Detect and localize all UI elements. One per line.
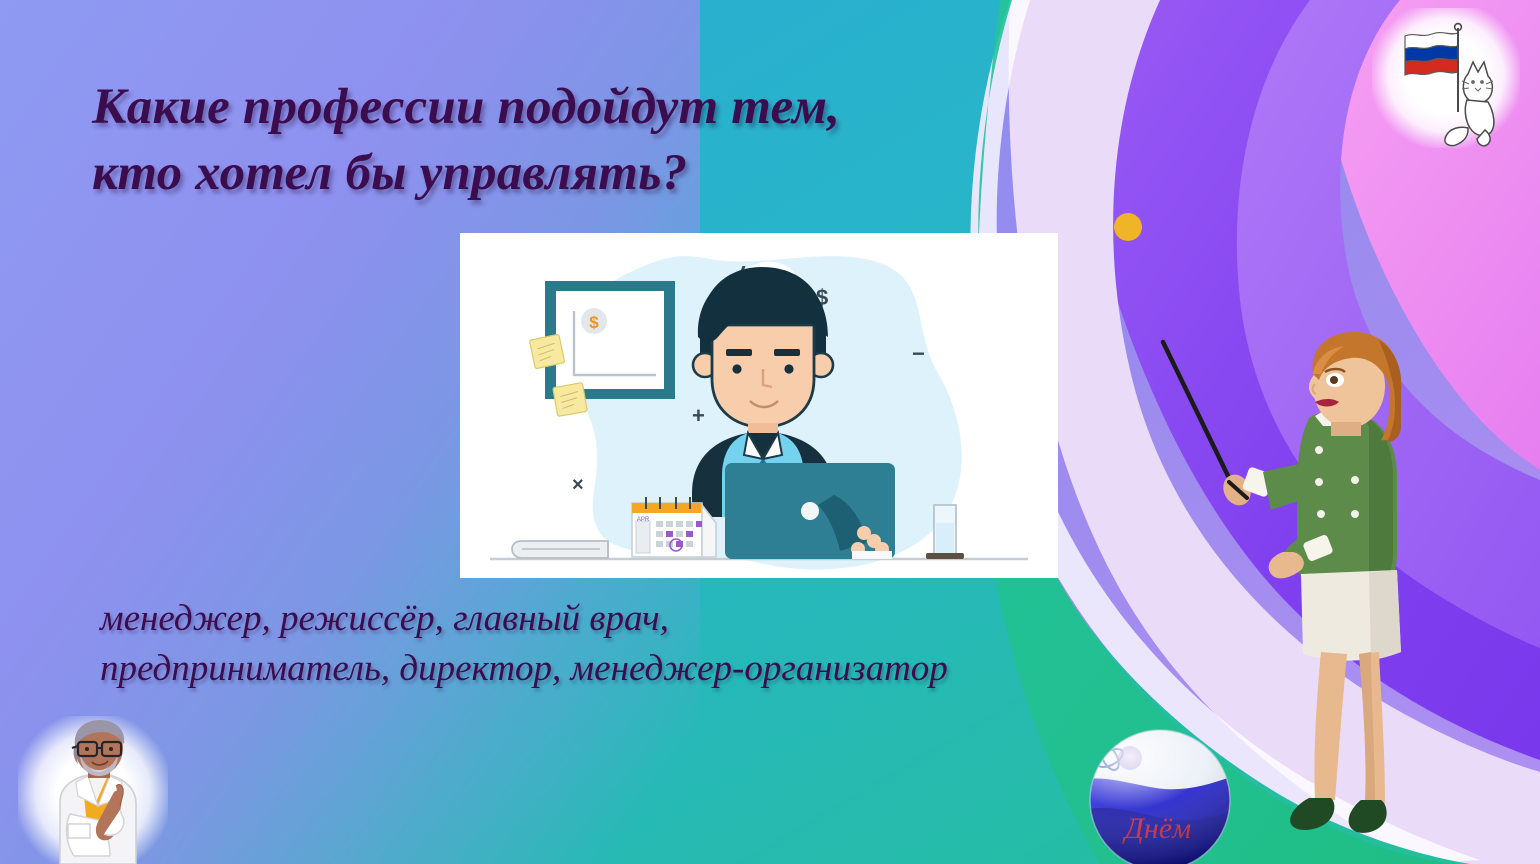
page-title: Какие профессии подойдут тем, кто хотел … bbox=[92, 74, 1042, 207]
pointer-stick-icon bbox=[1163, 342, 1231, 482]
times-symbol: × bbox=[572, 474, 584, 496]
svg-text:$: $ bbox=[589, 313, 599, 332]
illustration-card: $ / $ − + × bbox=[460, 233, 1058, 578]
professor-scientist-icon bbox=[18, 716, 168, 864]
slide-canvas: Какие профессии подойдут тем, кто хотел … bbox=[0, 0, 1540, 864]
sticky-note-icon bbox=[529, 334, 564, 369]
calendar-icon: APR bbox=[632, 497, 716, 557]
minus-symbol: − bbox=[912, 341, 925, 366]
accent-dot bbox=[1114, 213, 1142, 241]
russian-flag-globe-icon: Днём bbox=[1060, 726, 1260, 864]
plus-symbol: + bbox=[692, 403, 705, 428]
sticky-note-icon bbox=[553, 383, 588, 417]
whiteboard-icon: $ bbox=[545, 281, 675, 399]
cat-with-russian-flag-icon bbox=[1372, 8, 1520, 148]
svg-text:APR: APR bbox=[637, 517, 650, 523]
profession-list: менеджер, режиссёр, главный врач, предпр… bbox=[100, 594, 1160, 694]
book-icon bbox=[512, 541, 608, 558]
